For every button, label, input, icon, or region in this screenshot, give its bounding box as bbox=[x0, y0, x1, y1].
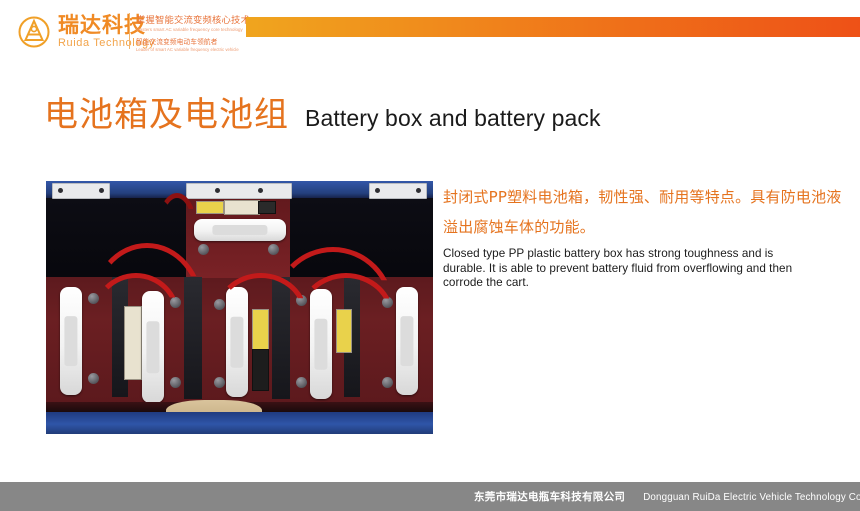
photo-mount-plate bbox=[369, 183, 427, 199]
photo-battery-label bbox=[258, 201, 276, 214]
photo-terminal bbox=[198, 244, 209, 255]
description-en: Closed type PP plastic battery box has s… bbox=[443, 247, 795, 291]
slide-footer: 东莞市瑞达电瓶车科技有限公司 Dongguan RuiDa Electric V… bbox=[0, 482, 860, 511]
tagline-line1-en: Masters smart AC variable frequency core… bbox=[136, 27, 244, 32]
battery-box-photo bbox=[46, 181, 433, 434]
photo-vent-cap bbox=[194, 219, 286, 241]
ruida-circle-emblem-icon bbox=[14, 12, 54, 52]
photo-terminal bbox=[88, 373, 99, 384]
photo-terminal bbox=[382, 377, 393, 388]
tagline-divider bbox=[129, 13, 130, 49]
footer-company-en: Dongguan RuiDa Electric Vehicle Technolo… bbox=[643, 492, 860, 503]
page-title-en: Battery box and battery pack bbox=[305, 107, 601, 130]
photo-terminal bbox=[214, 377, 225, 388]
photo-battery-label bbox=[124, 306, 142, 380]
photo-vent-cap bbox=[396, 287, 418, 395]
page-title: 电池箱及电池组 Battery box and battery pack bbox=[44, 98, 601, 132]
photo-terminal bbox=[268, 244, 279, 255]
brand-tagline: 掌握智能交流变频核心技术 Masters smart AC variable f… bbox=[136, 13, 244, 50]
photo-blue-frame-bottom bbox=[46, 412, 433, 434]
slide-root: 瑞达科技 Ruida Technology 掌握智能交流变频核心技术 Maste… bbox=[0, 0, 860, 511]
brand-logo: 瑞达科技 Ruida Technology bbox=[14, 11, 155, 53]
footer-company: 东莞市瑞达电瓶车科技有限公司 Dongguan RuiDa Electric V… bbox=[474, 489, 860, 504]
tagline-line1-cn: 掌握智能交流变频核心技术 bbox=[136, 12, 242, 26]
photo-mount-plate bbox=[186, 183, 292, 199]
description-cn: 封闭式PP塑料电池箱，韧性强、耐用等特点。具有防电池液溢出腐蚀车体的功能。 bbox=[443, 182, 843, 242]
photo-battery-label bbox=[196, 201, 224, 214]
photo-battery-label bbox=[224, 200, 260, 215]
slide-header: 瑞达科技 Ruida Technology 掌握智能交流变频核心技术 Maste… bbox=[0, 0, 860, 62]
header-accent-bar bbox=[246, 17, 860, 37]
photo-terminal bbox=[170, 377, 181, 388]
footer-company-cn: 东莞市瑞达电瓶车科技有限公司 bbox=[474, 489, 625, 504]
photo-vent-cap bbox=[60, 287, 82, 395]
tagline-line2-en: Leader of smart AC variable frequency el… bbox=[136, 47, 244, 52]
page-title-cn: 电池箱及电池组 bbox=[44, 98, 289, 132]
photo-terminal bbox=[296, 377, 307, 388]
tagline-line2-cn: 智能交流变频电动车领航者 bbox=[136, 36, 244, 46]
photo-battery-label bbox=[252, 349, 269, 391]
photo-mount-plate bbox=[52, 183, 110, 199]
